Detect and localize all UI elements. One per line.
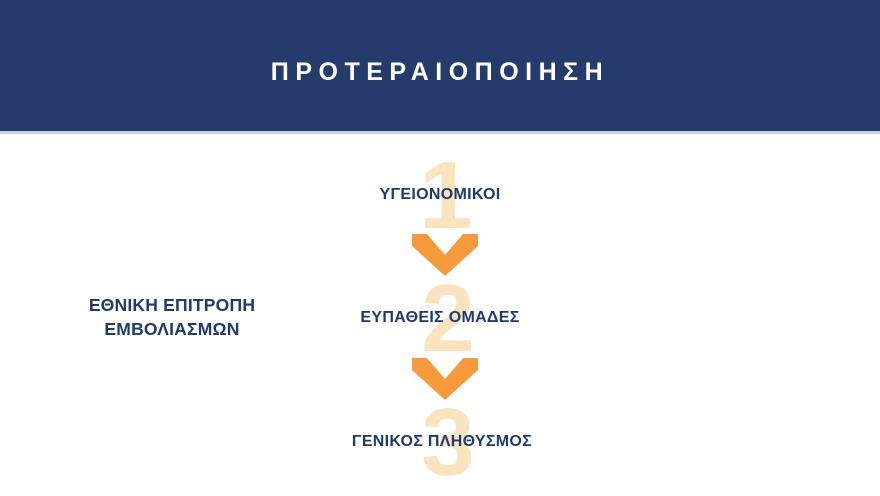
priority-steps-list: 1 ΥΓΕΙΟΝΟΜΙΚΟΙ 2 ΕΥΠΑΘΕΙΣ ΟΜΑΔΕΣ 3 ΓΕΝΙΚ…: [290, 140, 590, 485]
slide-canvas: ΠΡΟΤΕΡΑΙΟΠΟΙΗΣΗ ΕΘΝΙΚΗ ΕΠΙΤΡΟΠΗ ΕΜΒΟΛΙΑΣ…: [0, 0, 880, 495]
step-label-2: ΕΥΠΑΘΕΙΣ ΟΜΑΔΕΣ: [290, 308, 590, 328]
list-item: 2 ΕΥΠΑΘΕΙΣ ΟΜΑΔΕΣ: [290, 271, 590, 367]
step-label-3: ΓΕΝΙΚΟΣ ΠΛΗΘΥΣΜΟΣ: [290, 432, 592, 452]
organisation-label: ΕΘΝΙΚΗ ΕΠΙΤΡΟΠΗ ΕΜΒΟΛΙΑΣΜΩΝ: [22, 293, 322, 341]
organisation-label-line-2: ΕΜΒΟΛΙΑΣΜΩΝ: [22, 317, 322, 341]
organisation-label-line-1: ΕΘΝΙΚΗ ΕΠΙΤΡΟΠΗ: [22, 293, 322, 317]
list-item: 1 ΥΓΕΙΟΝΟΜΙΚΟΙ: [290, 148, 590, 244]
header-underline-divider: [0, 131, 880, 134]
list-item: 3 ΓΕΝΙΚΟΣ ΠΛΗΘΥΣΜΟΣ: [290, 395, 590, 491]
step-label-1: ΥΓΕΙΟΝΟΜΙΚΟΙ: [290, 185, 590, 205]
page-title: ΠΡΟΤΕΡΑΙΟΠΟΙΗΣΗ: [0, 57, 880, 87]
